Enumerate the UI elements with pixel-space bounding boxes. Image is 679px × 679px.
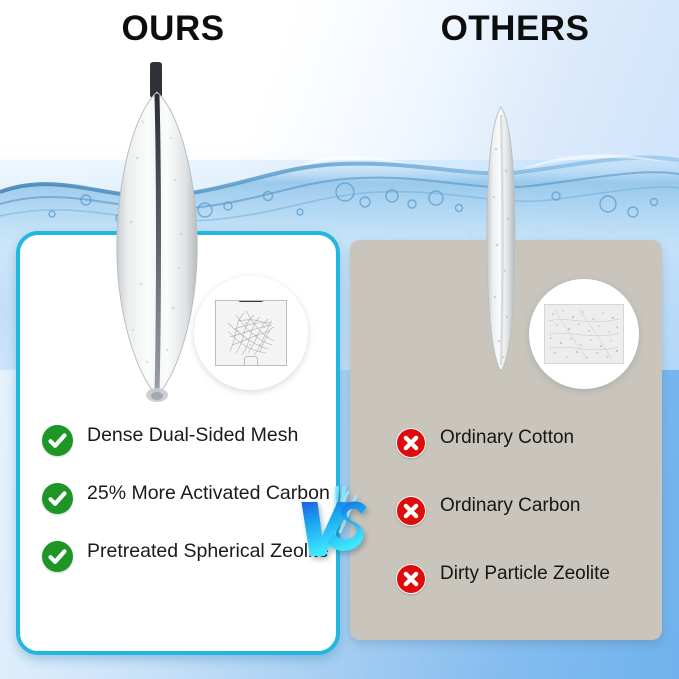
ours-feature-text: Dense Dual-Sided Mesh xyxy=(87,424,298,447)
list-item: Ordinary Cotton xyxy=(396,427,658,458)
ours-cartridge-closeup xyxy=(215,300,287,366)
others-feature-text: Ordinary Cotton xyxy=(440,427,574,449)
ours-feature-list: Dense Dual-Sided Mesh 25% More Activated… xyxy=(42,424,332,598)
heading-ours: OURS xyxy=(108,11,238,46)
list-item: Pretreated Spherical Zeolite xyxy=(42,540,332,572)
ours-detail-circle xyxy=(194,276,308,390)
others-detail-circle xyxy=(529,279,639,389)
green-check-icon xyxy=(42,541,73,572)
ours-feature-text: Pretreated Spherical Zeolite xyxy=(87,540,329,563)
green-check-icon xyxy=(42,483,73,514)
cotton-texture xyxy=(545,305,623,363)
list-item: Dense Dual-Sided Mesh xyxy=(42,424,332,456)
vs-badge xyxy=(296,486,380,562)
list-item: Dirty Particle Zeolite xyxy=(396,563,658,594)
cartridge-tab-icon xyxy=(237,300,265,302)
others-feature-text: Ordinary Carbon xyxy=(440,495,580,517)
list-item: 25% More Activated Carbon xyxy=(42,482,332,514)
red-cross-icon xyxy=(396,496,426,526)
others-product-image xyxy=(470,105,532,375)
others-cotton-pad-closeup xyxy=(544,304,624,364)
others-feature-list: Ordinary Cotton Ordinary Carbon Dirty Pa… xyxy=(396,427,658,631)
green-check-icon xyxy=(42,425,73,456)
comparison-infographic: OURS OTHERS xyxy=(0,0,679,679)
ours-product-image xyxy=(103,62,211,402)
cartridge-foot-icon xyxy=(244,356,258,366)
list-item: Ordinary Carbon xyxy=(396,495,658,526)
heading-others: OTHERS xyxy=(425,11,605,46)
red-cross-icon xyxy=(396,428,426,458)
others-feature-text: Dirty Particle Zeolite xyxy=(440,563,610,585)
red-cross-icon xyxy=(396,564,426,594)
ours-feature-text: 25% More Activated Carbon xyxy=(87,482,330,505)
